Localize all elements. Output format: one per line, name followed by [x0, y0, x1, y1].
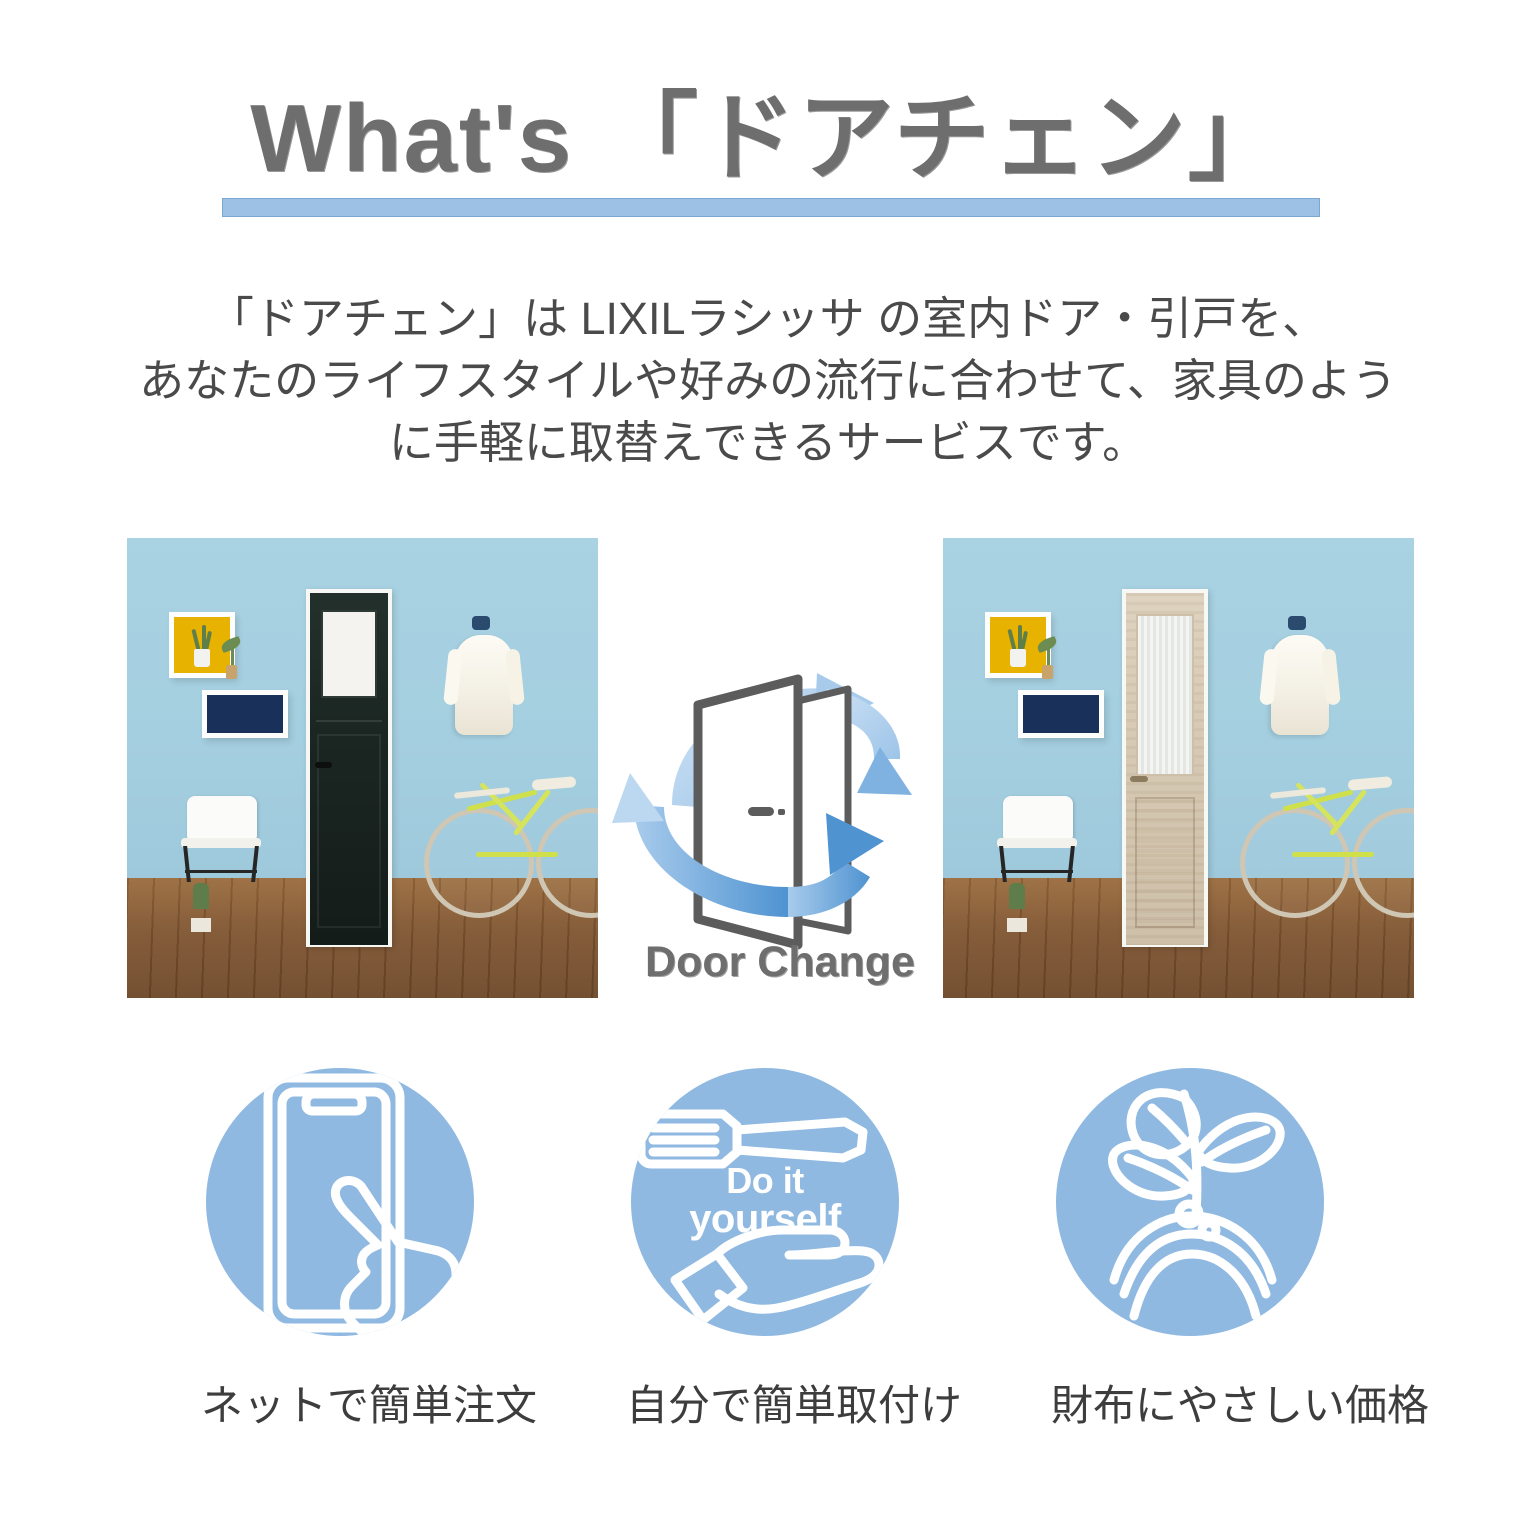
door-handle	[315, 762, 332, 768]
yellow-bicycle	[1236, 740, 1414, 940]
wood-door	[1126, 593, 1204, 946]
navy-shelf-box	[202, 690, 288, 738]
feature-label: ネットで簡単注文	[201, 1372, 479, 1433]
door-frame	[306, 589, 392, 948]
feature-label: 財布にやさしい価格	[1051, 1372, 1329, 1433]
vase	[226, 665, 237, 679]
after-photo	[943, 538, 1414, 998]
lead-line-2: あなたのライフスタイルや好みの流行に合わせて、家具のよう	[0, 350, 1536, 412]
dark-door	[310, 593, 388, 946]
cactus-pot	[1007, 918, 1027, 932]
door-change-caption: Door Change	[600, 938, 960, 987]
page-title-wrap: What's 「ドアチェン」	[0, 84, 1536, 194]
title-underline-bar	[222, 198, 1320, 217]
cactus-plant	[193, 883, 209, 909]
cactus-pot	[191, 918, 211, 932]
lead-line-3: に手軽に取替えできるサービスです。	[0, 412, 1536, 474]
white-coat	[455, 635, 513, 735]
feature-item-online-order[interactable]: ネットで簡単注文	[201, 1068, 479, 1433]
feature-item-diy-install[interactable]: Do it yourself 自分で簡単取付け	[626, 1068, 904, 1433]
wall-hook	[472, 616, 490, 630]
yellow-bicycle	[420, 740, 598, 940]
lead-line-1: 「ドアチェン」は LIXILラシッサ の室内ドア・引戸を、	[0, 288, 1536, 350]
feature-list: ネットで簡単注文 Do it	[0, 1068, 1536, 1468]
vase-stem	[231, 644, 234, 666]
wall-hook	[1288, 616, 1306, 630]
feature-circle: Do it yourself	[631, 1068, 899, 1336]
door-glass-panel	[321, 610, 377, 698]
door-handle	[1130, 776, 1148, 782]
vase-stem	[1047, 644, 1050, 666]
sprout-plant-icon	[1056, 1068, 1324, 1336]
page-title: What's 「ドアチェン」	[0, 84, 1536, 194]
feature-circle	[1056, 1068, 1324, 1336]
lead-paragraph: 「ドアチェン」は LIXILラシッサ の室内ドア・引戸を、 あなたのライフスタイ…	[0, 288, 1536, 474]
white-chair	[179, 796, 263, 880]
promo-page: What's 「ドアチェン」 「ドアチェン」は LIXILラシッサ の室内ドア・…	[0, 0, 1536, 1536]
feature-label: 自分で簡単取付け	[626, 1372, 904, 1433]
smartphone-tap-icon	[206, 1068, 474, 1336]
white-chair	[995, 796, 1079, 880]
vase	[1042, 665, 1053, 679]
before-photo	[127, 538, 598, 998]
feature-item-friendly-price[interactable]: 財布にやさしい価格	[1051, 1068, 1329, 1433]
door-glass-panel	[1136, 614, 1194, 776]
cactus-plant	[1009, 883, 1025, 909]
screwdriver-hand-icon	[631, 1068, 899, 1336]
feature-circle	[206, 1068, 474, 1336]
white-coat	[1271, 635, 1329, 735]
door-frame	[1122, 589, 1208, 948]
navy-shelf-box	[1018, 690, 1104, 738]
